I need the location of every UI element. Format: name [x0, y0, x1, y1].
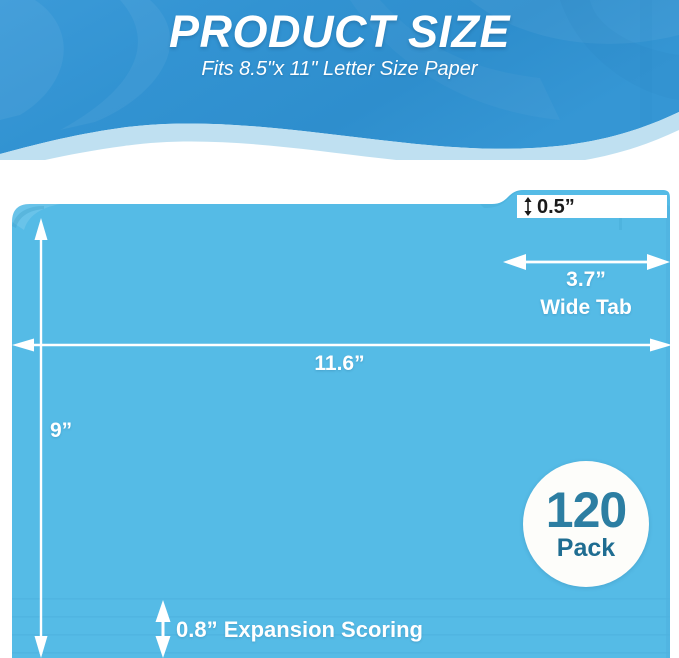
tab-width-dimension-label: 3.7” — [503, 268, 669, 292]
tab-height-label: 0.5” — [537, 197, 575, 217]
tab-height-callout: 0.5” — [517, 195, 667, 218]
height-dimension-label: 9” — [50, 419, 72, 443]
page-title: PRODUCT SIZE — [0, 8, 679, 55]
page-subtitle: Fits 8.5"x 11" Letter Size Paper — [0, 58, 679, 81]
folder-shape — [12, 190, 670, 658]
expansion-dimension-label: 0.8” Expansion Scoring — [176, 617, 423, 643]
tab-width-description-label: Wide Tab — [503, 296, 669, 320]
header-banner: PRODUCT SIZE Fits 8.5"x 11" Letter Size … — [0, 0, 679, 160]
pack-quantity-badge: 120 Pack — [523, 461, 649, 587]
width-dimension-label: 11.6” — [0, 352, 679, 376]
pack-count-unit: Pack — [557, 536, 615, 561]
pack-count-value: 120 — [546, 487, 626, 535]
vertical-double-arrow-icon — [522, 197, 534, 216]
